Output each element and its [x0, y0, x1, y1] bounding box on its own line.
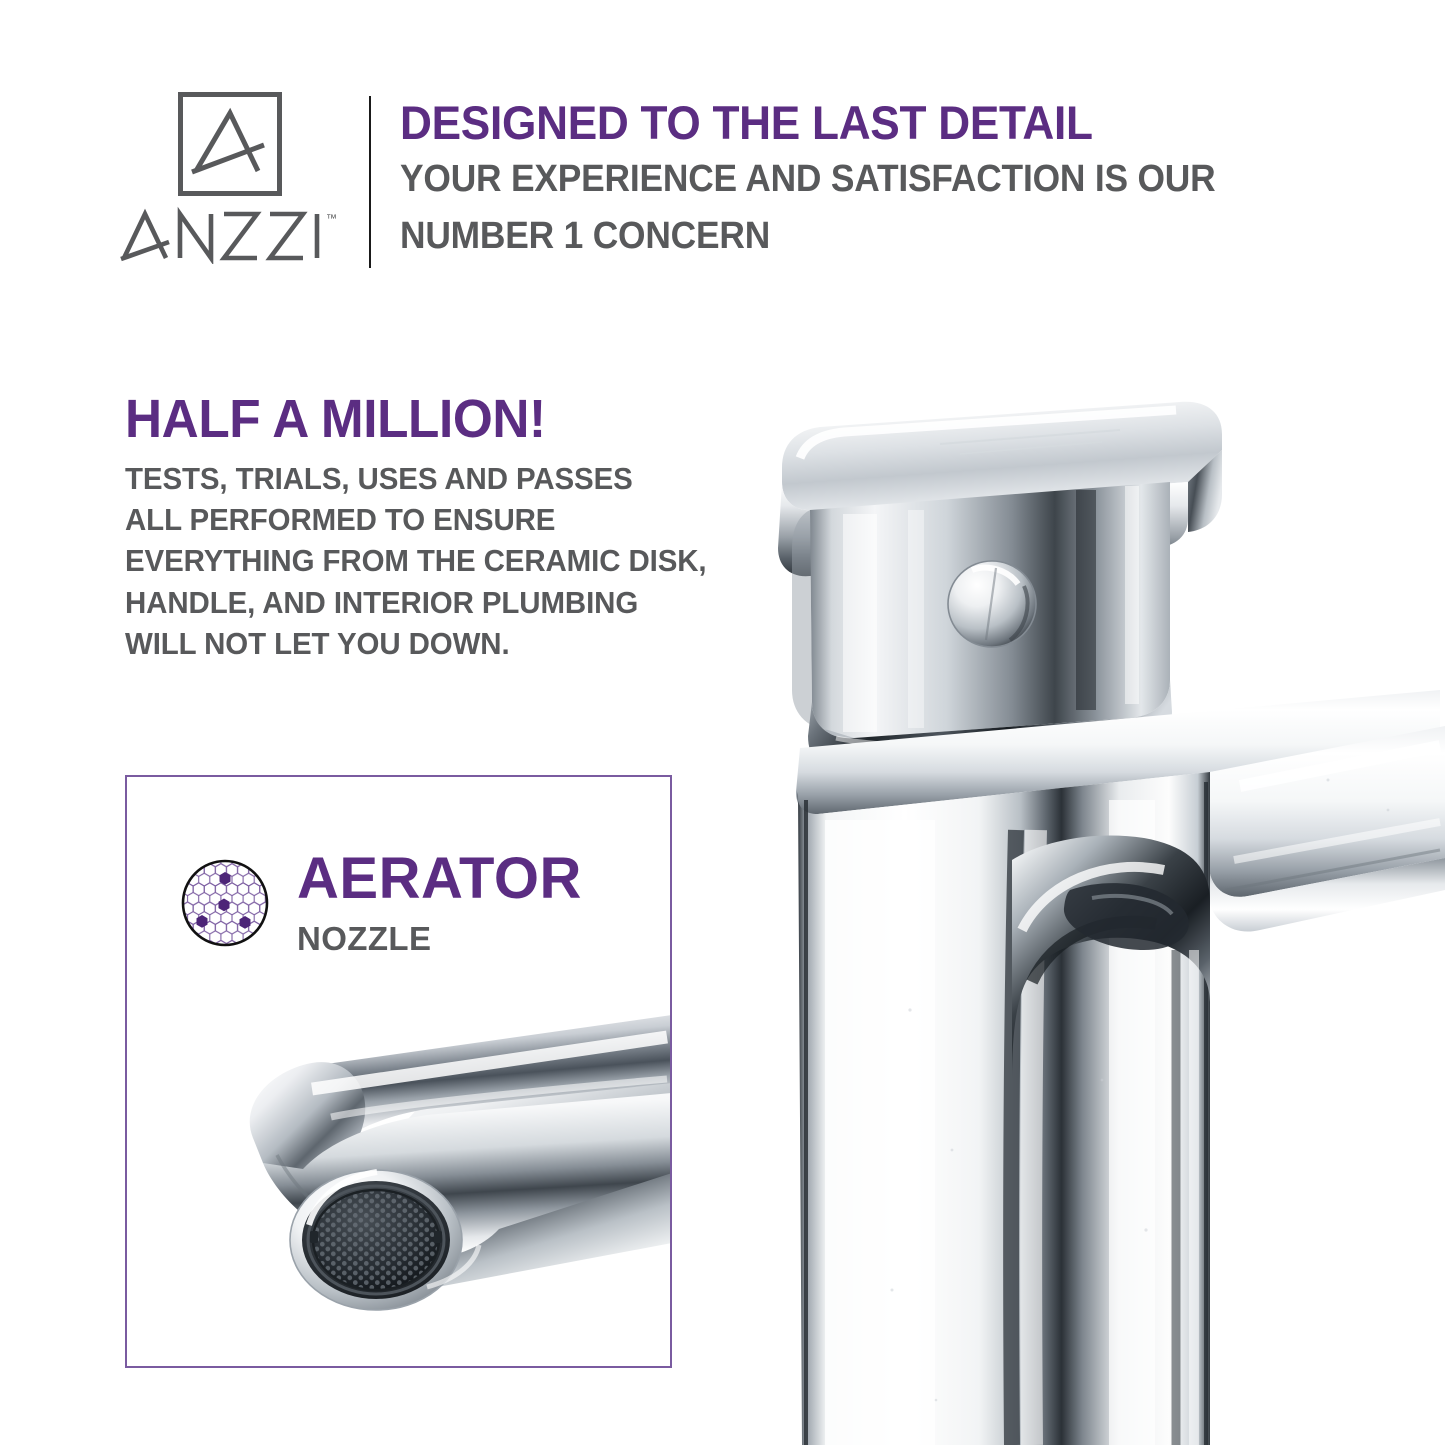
feature-body: TESTS, TRIALS, USES AND PASSES ALL PERFO…: [125, 458, 765, 664]
header-band: ™ DESIGNED TO THE LAST DETAIL YOUR EXPER…: [0, 0, 1445, 300]
product-faucet-image: [740, 390, 1445, 1445]
brand-logo: ™: [120, 92, 350, 277]
aerator-subtitle: NOZZLE: [297, 922, 582, 955]
aerator-callout-panel: AERATOR NOZZLE: [125, 775, 672, 1368]
feature-body-line: TESTS, TRIALS, USES AND PASSES: [125, 458, 733, 499]
trademark-symbol: ™: [326, 213, 337, 225]
feature-body-line: WILL NOT LET YOU DOWN.: [125, 623, 733, 664]
infographic-canvas: ™ DESIGNED TO THE LAST DETAIL YOUR EXPER…: [0, 0, 1445, 1445]
header-headline: DESIGNED TO THE LAST DETAIL: [400, 98, 1246, 148]
feature-copy-block: HALF A MILLION! TESTS, TRIALS, USES AND …: [125, 392, 765, 664]
feature-heading: HALF A MILLION!: [125, 392, 733, 446]
faucet-spout-aerator-photo: [127, 997, 672, 1368]
aerator-header-row: AERATOR NOZZLE: [175, 850, 645, 970]
header-text-group: DESIGNED TO THE LAST DETAIL YOUR EXPERIE…: [400, 98, 1300, 261]
feature-body-line: HANDLE, AND INTERIOR PLUMBING: [125, 582, 733, 623]
aerator-title: AERATOR: [297, 850, 582, 908]
aerator-label-group: AERATOR NOZZLE: [297, 850, 582, 955]
anzzi-square-a-logo-icon: [178, 92, 282, 196]
brand-wordmark: ™: [120, 204, 350, 264]
feature-body-line: ALL PERFORMED TO ENSURE: [125, 499, 733, 540]
header-vertical-divider: [369, 96, 371, 268]
honeycomb-mesh-icon: [175, 853, 275, 953]
feature-body-line: EVERYTHING FROM THE CERAMIC DISK,: [125, 540, 733, 581]
header-subhead-line-2: NUMBER 1 CONCERN: [400, 211, 1237, 262]
header-subhead-line-1: YOUR EXPERIENCE AND SATISFACTION IS OUR: [400, 154, 1237, 205]
